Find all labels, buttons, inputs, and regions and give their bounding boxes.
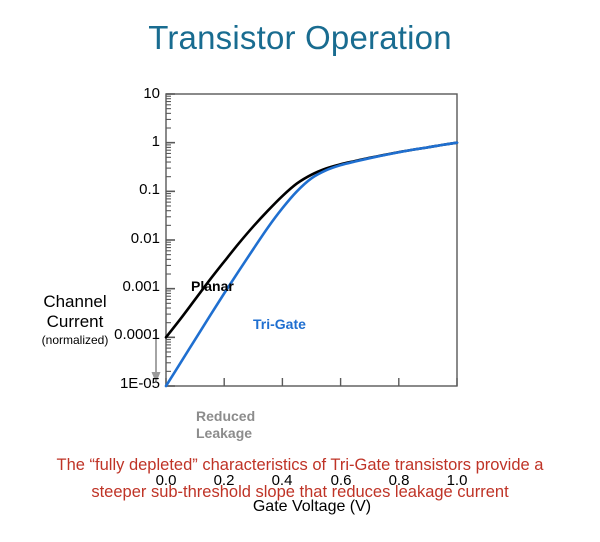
axis-frame (166, 94, 457, 386)
caption-line-1: The “fully depleted” characteristics of … (10, 452, 590, 479)
series-line-trigate (166, 143, 457, 386)
axis-ticks (166, 94, 457, 386)
annotation-reduced-leakage-line1: Reduced (196, 408, 255, 425)
y-tick-label: 0.01 (131, 230, 160, 247)
annotation-reduced-leakage: Reduced Leakage (196, 408, 255, 442)
y-tick-label: 1 (152, 133, 160, 150)
y-tick-label: 0.001 (122, 278, 160, 295)
y-tick-labels: 10 1 0.1 0.01 0.001 0.0001 1E-05 (40, 80, 160, 480)
annotation-trigate: Tri-Gate (253, 316, 306, 332)
annotation-planar: Planar (191, 278, 234, 294)
caption-line-2: steeper sub-threshold slope that reduces… (10, 479, 590, 506)
chart-figure: Channel Current (normalized) 10 1 0.1 0.… (0, 80, 600, 450)
y-tick-label: 0.1 (139, 181, 160, 198)
annotation-reduced-leakage-line2: Leakage (196, 425, 255, 442)
y-tick-label: 10 (143, 85, 160, 102)
slide-caption: The “fully depleted” characteristics of … (10, 452, 590, 506)
y-tick-label: 1E-05 (120, 375, 160, 392)
page-title: Transistor Operation (0, 18, 600, 58)
series-line-planar (166, 143, 457, 338)
y-tick-label: 0.0001 (114, 326, 160, 343)
